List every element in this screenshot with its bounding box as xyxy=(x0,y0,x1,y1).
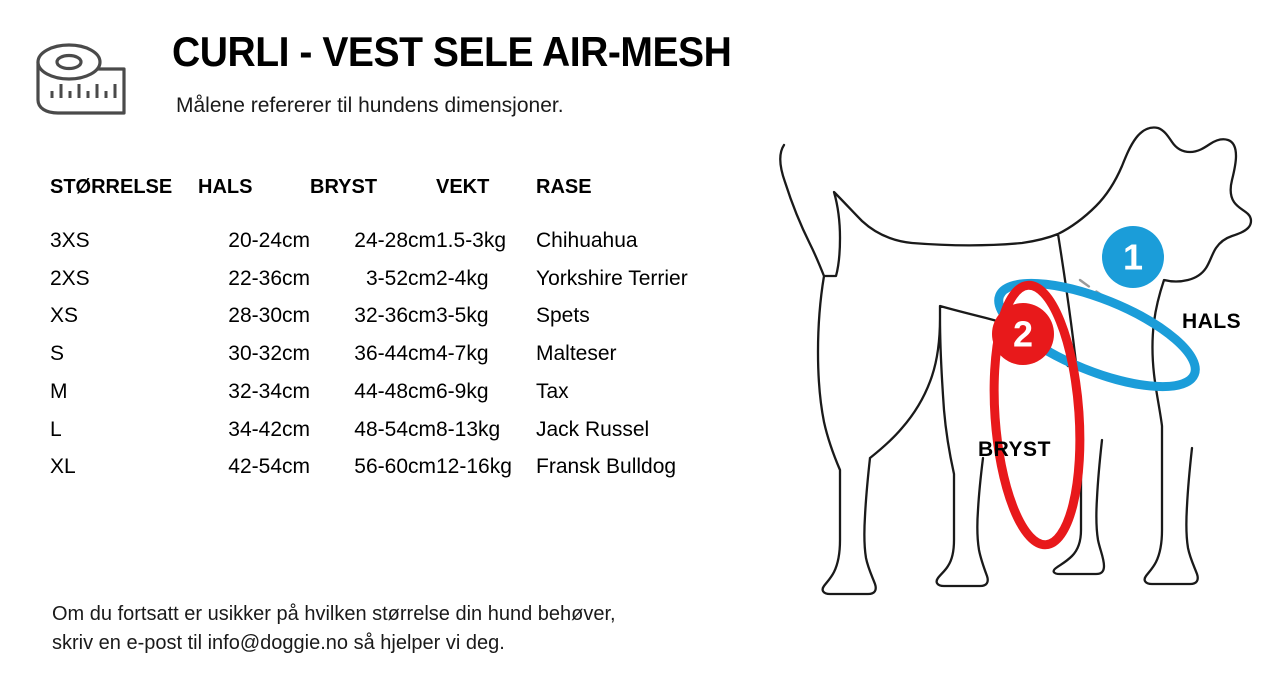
cell-neck: 30-32cm xyxy=(198,340,310,378)
table-header-row: STØRRELSE HALS BRYST VEKT RASE xyxy=(50,176,730,227)
cell-breed: Tax xyxy=(536,378,730,416)
contact-note: Om du fortsatt er usikker på hvilken stø… xyxy=(52,600,616,658)
column-header-breed: RASE xyxy=(536,176,730,227)
table-row: XL 42-54cm 56-60cm 12-16kg Fransk Bulldo… xyxy=(50,453,730,491)
cell-weight: 6-9kg xyxy=(436,378,536,416)
cell-chest: 48-54cm xyxy=(310,416,436,454)
cell-size: XL xyxy=(50,453,198,491)
table-row: M 32-34cm 44-48cm 6-9kg Tax xyxy=(50,378,730,416)
cell-chest: 32-36cm xyxy=(310,302,436,340)
cell-chest: 36-44cm xyxy=(310,340,436,378)
cell-chest: 24-28cm xyxy=(310,227,436,265)
cell-neck: 20-24cm xyxy=(198,227,310,265)
cell-neck: 34-42cm xyxy=(198,416,310,454)
cell-chest: 56-60cm xyxy=(310,453,436,491)
chest-marker-label: 2 xyxy=(1013,314,1033,355)
table-row: L 34-42cm 48-54cm 8-13kg Jack Russel xyxy=(50,416,730,454)
neck-measurement-label: HALS xyxy=(1182,310,1241,334)
cell-chest: 44-48cm xyxy=(310,378,436,416)
cell-weight: 2-4kg xyxy=(436,265,536,303)
chest-measurement-label: BRYST xyxy=(978,438,1051,462)
page-title: CURLI - VEST SELE AIR-MESH xyxy=(172,31,731,73)
table-row: XS 28-30cm 32-36cm 3-5kg Spets xyxy=(50,302,730,340)
cell-weight: 4-7kg xyxy=(436,340,536,378)
cell-weight: 12-16kg xyxy=(436,453,536,491)
cell-breed: Fransk Bulldog xyxy=(536,453,730,491)
column-header-weight: VEKT xyxy=(436,176,536,227)
contact-note-line-2: skriv en e-post til info@doggie.no så hj… xyxy=(52,629,616,658)
cell-size: 2XS xyxy=(50,265,198,303)
table-row: 3XS 20-24cm 24-28cm 1.5-3kg Chihuahua xyxy=(50,227,730,265)
neck-marker-badge: 1 xyxy=(1102,226,1164,288)
cell-breed: Jack Russel xyxy=(536,416,730,454)
column-header-chest: BRYST xyxy=(310,176,436,227)
table-row: S 30-32cm 36-44cm 4-7kg Malteser xyxy=(50,340,730,378)
cell-weight: 8-13kg xyxy=(436,416,536,454)
column-header-neck: HALS xyxy=(198,176,310,227)
size-chart-table: STØRRELSE HALS BRYST VEKT RASE 3XS 20-24… xyxy=(50,176,730,491)
header: CURLI - VEST SELE AIR-MESH Målene refere… xyxy=(0,0,820,140)
cell-size: S xyxy=(50,340,198,378)
cell-weight: 3-5kg xyxy=(436,302,536,340)
cell-chest: 3-52cm xyxy=(310,265,436,303)
measuring-tape-icon xyxy=(24,26,132,118)
cell-neck: 22-36cm xyxy=(198,265,310,303)
column-header-size: STØRRELSE xyxy=(50,176,198,227)
cell-neck: 32-34cm xyxy=(198,378,310,416)
table-row: 2XS 22-36cm 3-52cm 2-4kg Yorkshire Terri… xyxy=(50,265,730,303)
cell-weight: 1.5-3kg xyxy=(436,227,536,265)
cell-size: L xyxy=(50,416,198,454)
contact-note-line-1: Om du fortsatt er usikker på hvilken stø… xyxy=(52,600,616,629)
page-subtitle: Målene refererer til hundens dimensjoner… xyxy=(176,95,564,116)
cell-neck: 42-54cm xyxy=(198,453,310,491)
cell-size: 3XS xyxy=(50,227,198,265)
dog-measurement-diagram: 1 2 xyxy=(740,110,1280,610)
cell-breed: Yorkshire Terrier xyxy=(536,265,730,303)
cell-size: XS xyxy=(50,302,198,340)
chest-marker-badge: 2 xyxy=(992,303,1054,365)
cell-breed: Malteser xyxy=(536,340,730,378)
cell-neck: 28-30cm xyxy=(198,302,310,340)
neck-marker-label: 1 xyxy=(1123,237,1143,278)
cell-size: M xyxy=(50,378,198,416)
cell-breed: Chihuahua xyxy=(536,227,730,265)
cell-breed: Spets xyxy=(536,302,730,340)
